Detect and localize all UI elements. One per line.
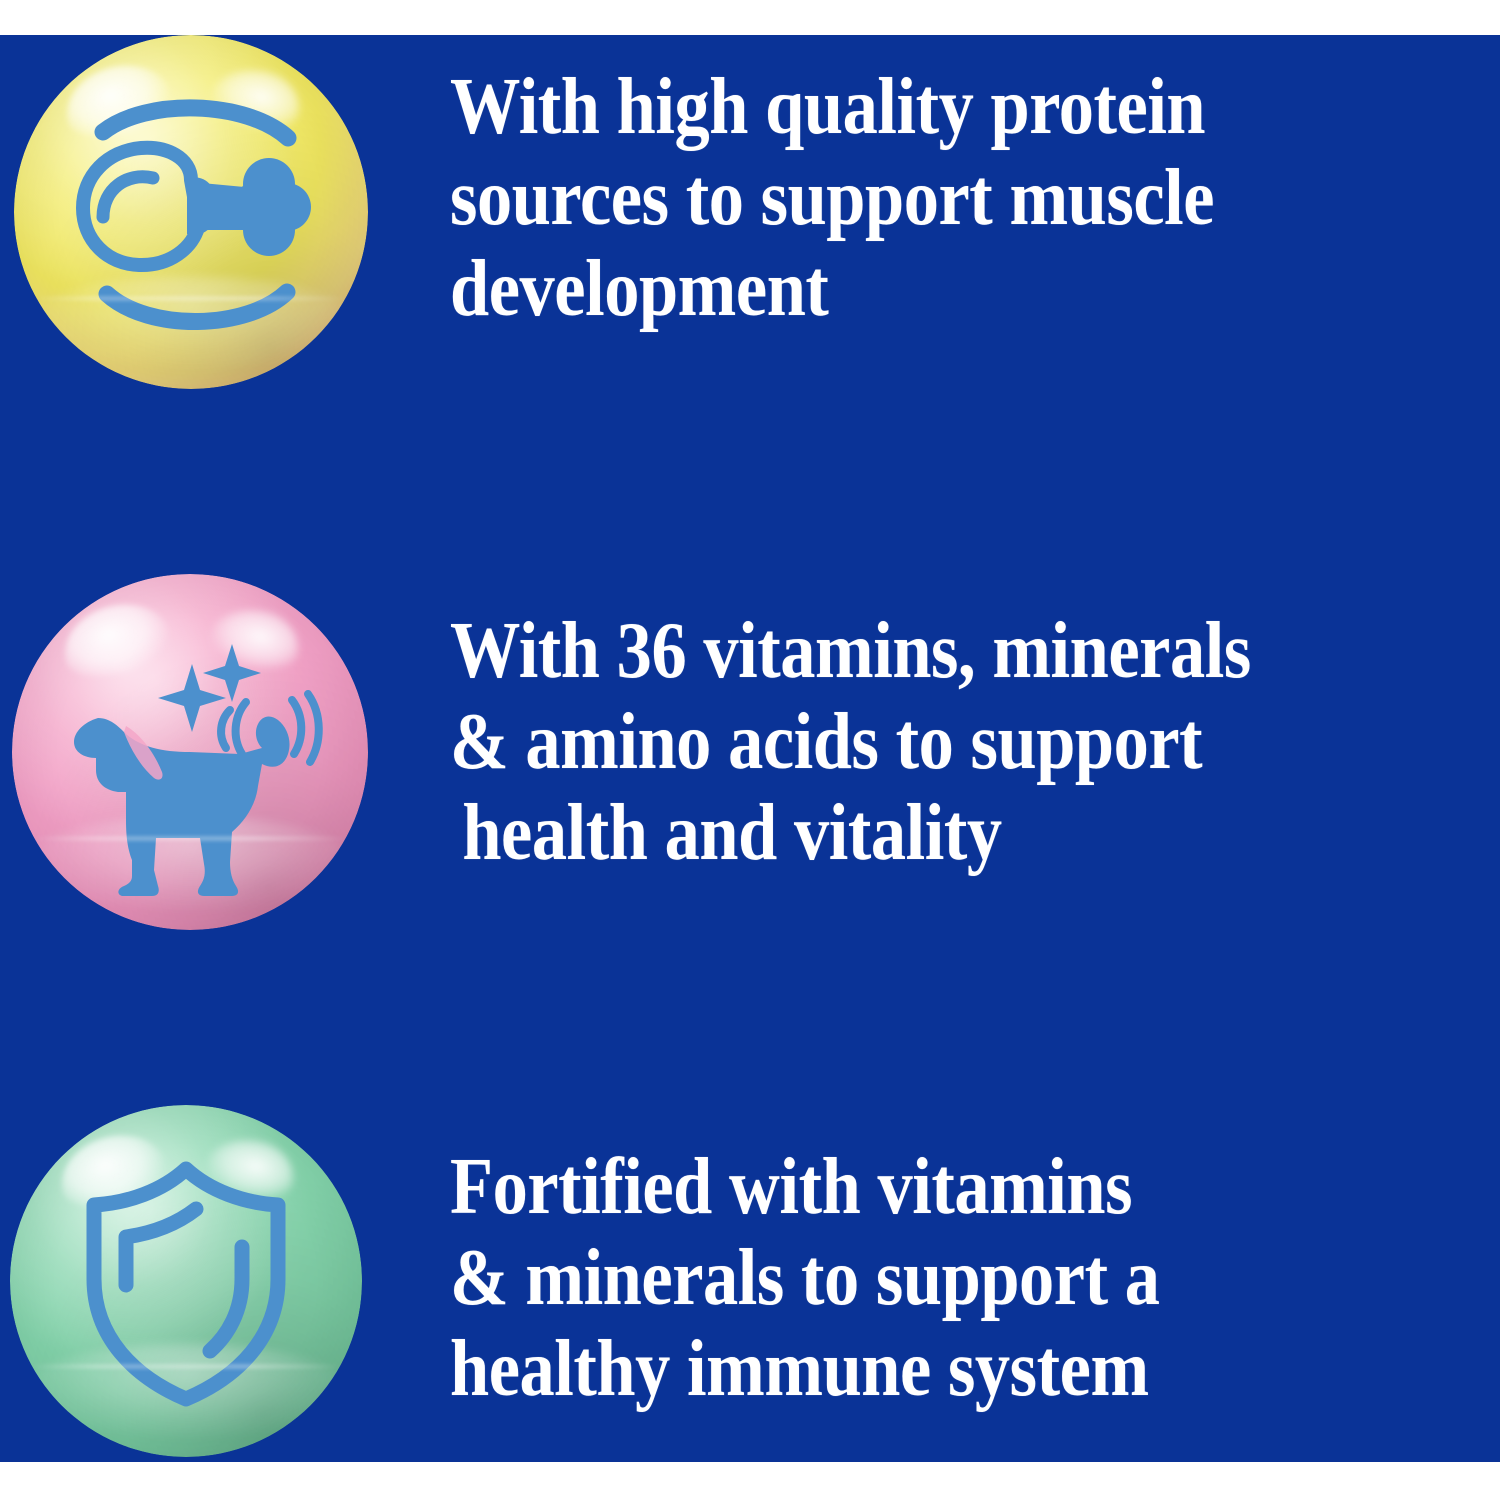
sphere-immune [10, 1105, 362, 1457]
feature-line: Fortified with vitamins [450, 1142, 1160, 1233]
feature-text-immune: Fortified with vitamins & minerals to su… [450, 1142, 1160, 1416]
feature-line: & amino acids to support [450, 697, 1251, 788]
feature-text-vitamins: With 36 vitamins, minerals & amino acids… [450, 606, 1251, 880]
feature-line: sources to support muscle [450, 153, 1214, 244]
feature-line: With 36 vitamins, minerals [450, 606, 1251, 697]
sphere-base-immune [10, 1105, 362, 1457]
feature-row-vitamins: With 36 vitamins, minerals & amino acids… [0, 500, 1500, 1000]
feature-line: & minerals to support a [450, 1233, 1160, 1324]
sphere-base-protein [14, 35, 368, 389]
feature-row-immune: Fortified with vitamins & minerals to su… [0, 1000, 1500, 1500]
sphere-protein [14, 35, 368, 389]
feature-text-protein: With high quality protein sources to sup… [450, 62, 1214, 336]
sphere-base-vitamins [12, 574, 368, 930]
feature-line: healthy immune system [450, 1324, 1160, 1415]
feature-line: With high quality protein [450, 62, 1214, 153]
feature-row-protein: With high quality protein sources to sup… [0, 0, 1500, 500]
feature-line: development [450, 244, 1214, 335]
product-feature-panel: With high quality protein sources to sup… [0, 0, 1500, 1500]
feature-line: health and vitality [450, 788, 1251, 879]
sphere-vitamins [12, 574, 368, 930]
